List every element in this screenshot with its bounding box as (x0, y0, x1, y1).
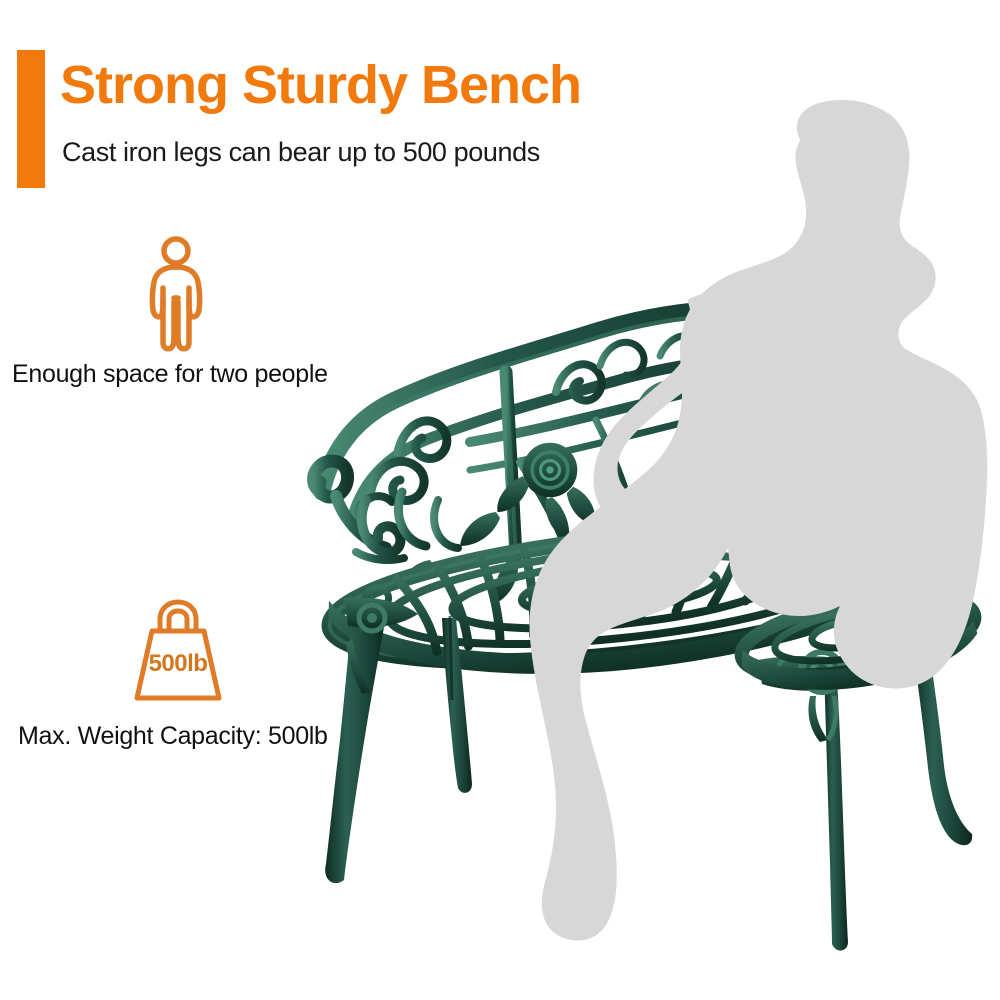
bench-right-end (736, 473, 983, 707)
weight-bag-icon (130, 597, 226, 703)
leg-rose-medallion (758, 652, 890, 742)
page-subtitle: Cast iron legs can bear up to 500 pounds (62, 137, 540, 168)
bench-left-armrest (314, 461, 458, 560)
person-standing-icon (138, 236, 214, 354)
bench-rose-ornaments (402, 380, 788, 602)
seated-person-silhouette (530, 100, 988, 941)
feature-label-space: Enough space for two people (12, 360, 328, 389)
product-feature-infographic: Strong Sturdy Bench Cast iron legs can b… (0, 0, 1000, 1000)
accent-bar (17, 50, 45, 188)
feature-label-capacity: Max. Weight Capacity: 500lb (18, 722, 328, 751)
bench-legs (325, 598, 972, 951)
page-title: Strong Sturdy Bench (60, 56, 581, 115)
bench-seat (324, 508, 919, 700)
bench-backrest (322, 309, 842, 556)
